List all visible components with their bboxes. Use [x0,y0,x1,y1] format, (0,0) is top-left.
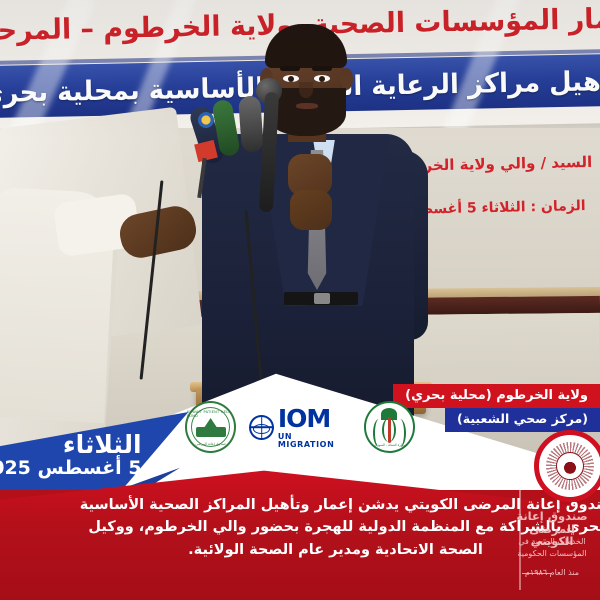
footer-bar: صندوق إعانة المرضى الكويتي يدشن إعمار وت… [0,480,600,600]
kpf-seal-icon [534,430,600,502]
footer-brand-year: منذ العام ١٩٨٦م [510,568,594,577]
kuwait-patient-help-fund-logo-icon: KUWAIT PATIENT HELP FUND صندوق إعانة الم… [185,401,236,453]
iom-wordmark: IOM [278,406,351,431]
event-day-label: الثلاثاء [0,432,142,458]
event-date-block: الثلاثاء 5 أغسطس 2025 [0,432,142,479]
ministry-of-health-logo-icon: وزارة الصحة - السودان [364,401,415,453]
badge-state-locality: ولاية الخرطوم (محلية بحري) [393,384,600,408]
kpf-logo-bottom-text: صندوق إعانة المرضى [195,442,225,446]
moh-logo-caption: وزارة الصحة - السودان [374,443,405,447]
footer-brand-block: صندوق إعانة المرضى الكويتي الخدمات الصحي… [510,476,596,598]
footer-brand-sub: الخدمات الصحية في المؤسسات الحكومية [510,536,594,560]
iom-logo-text: IOM UN MIGRATION [278,406,351,449]
iom-tagline: UN MIGRATION [278,433,351,449]
globe-latitude [253,424,270,434]
kpf-crest-base [196,427,226,437]
footer-brand-sub-line-2: المؤسسات الحكومية [510,548,594,560]
iom-logo: IOM UN MIGRATION [249,406,351,449]
globe-icon [249,415,274,440]
kpf-seal-glyph [561,457,579,475]
event-date-label: 5 أغسطس 2025 [0,459,142,479]
news-card: إعادة إعمار المؤسسات الصحية بولاية الخرط… [0,0,600,600]
partner-logos: KUWAIT PATIENT HELP FUND صندوق إعانة الم… [185,398,415,456]
kpf-logo-top-text: KUWAIT PATIENT HELP FUND [187,410,234,418]
footer-brand-sub-line-1: الخدمات الصحية في [510,536,594,548]
badge-health-center: (مركز صحي الشعبية) [445,408,600,432]
